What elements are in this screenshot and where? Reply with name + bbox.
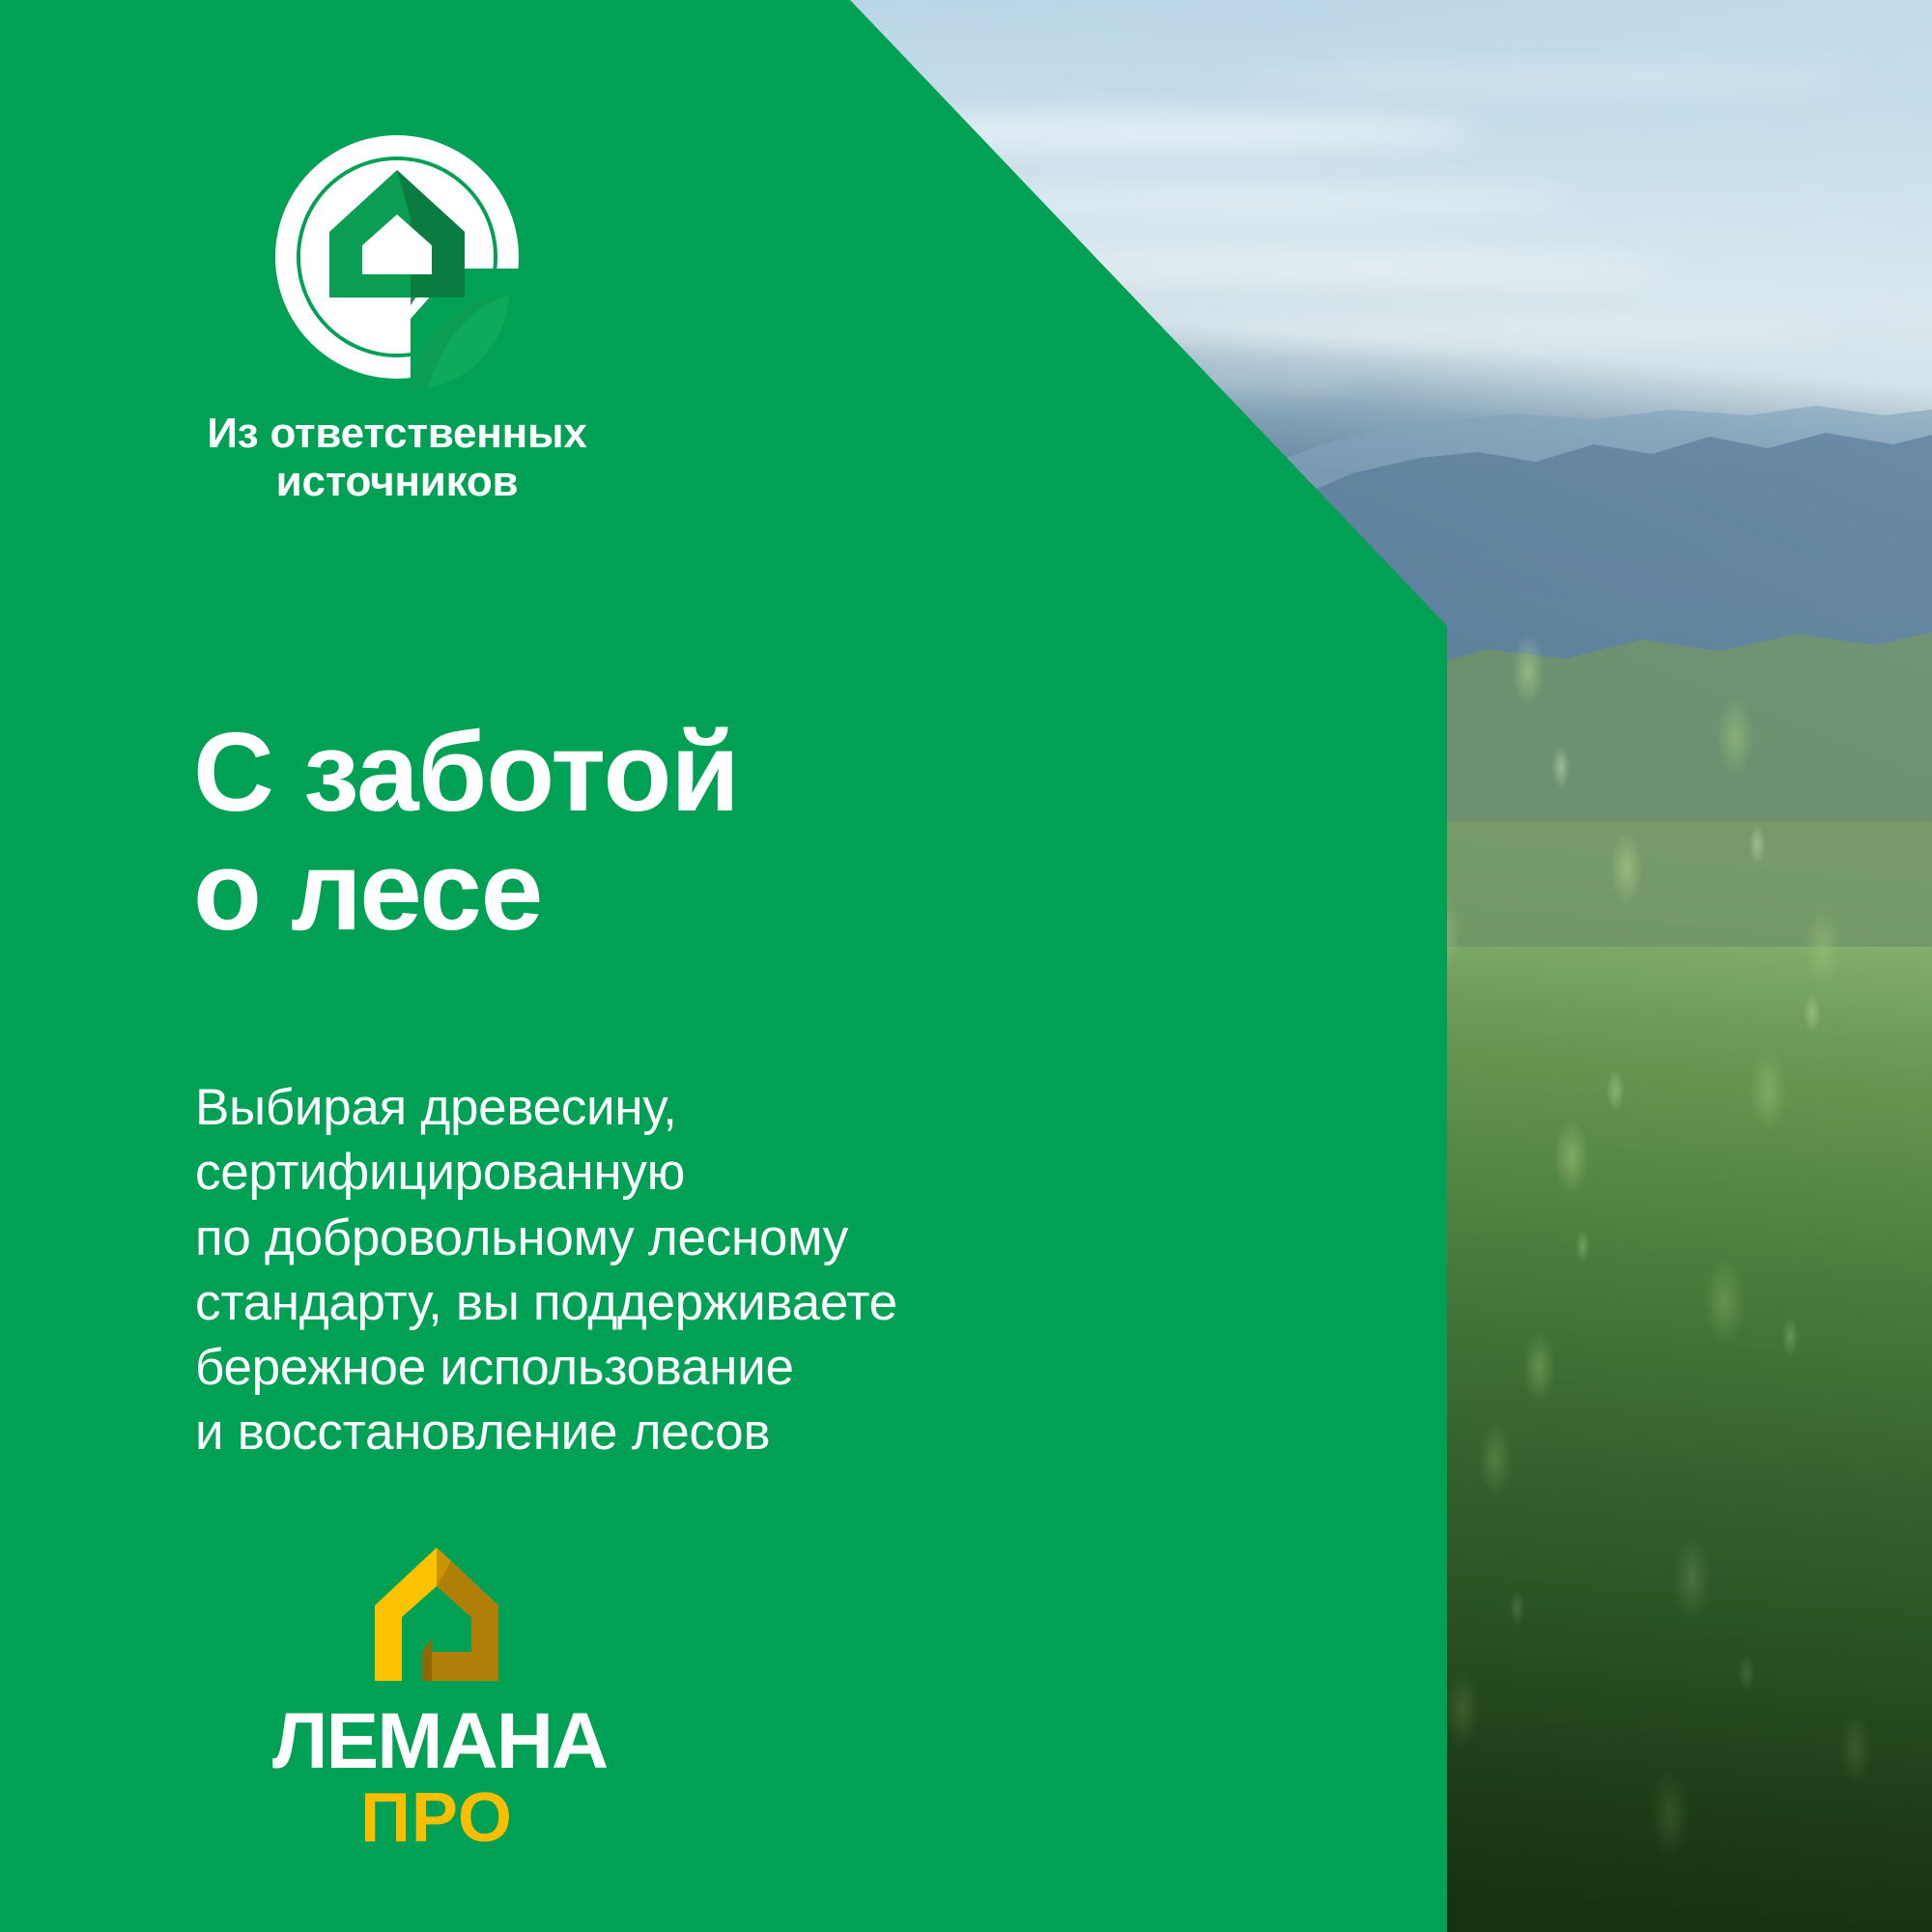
house-with-leaf-in-circle-emblem — [266, 126, 528, 388]
body-paragraph: Выбирая древесину, сертифицированную по … — [195, 1075, 1007, 1465]
certification-badge: Из ответственных источников — [189, 126, 605, 506]
page-title: С заботой о лесе — [193, 713, 739, 951]
lemana-house-icon — [372, 1546, 501, 1681]
brand-wordmark: ЛЕМАНА ПРО — [272, 1704, 601, 1853]
poster-canvas: Из ответственных источников С заботой о … — [0, 0, 1932, 1932]
certification-badge-caption: Из ответственных источников — [189, 410, 605, 506]
brand-logo: ЛЕМАНА ПРО — [263, 1546, 611, 1853]
brand-name-primary: ЛЕМАНА — [272, 1704, 601, 1779]
brand-name-secondary: ПРО — [272, 1783, 601, 1853]
poster-content: Из ответственных источников С заботой о … — [0, 0, 1932, 1932]
